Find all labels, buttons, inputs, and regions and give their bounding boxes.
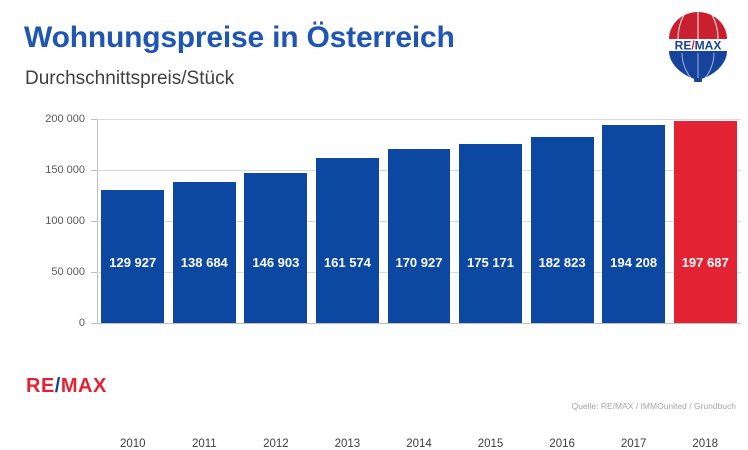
bars-container: 129 927138 684146 903161 574170 927175 1… <box>97 104 741 356</box>
bar-slot: 182 823 <box>526 104 598 323</box>
x-axis-label: 2013 <box>312 438 384 450</box>
x-axis-label: 2011 <box>169 438 241 450</box>
bar-value-label: 138 684 <box>173 255 236 270</box>
y-axis-label: 0 <box>79 317 85 329</box>
x-axis-label: 2018 <box>669 438 741 450</box>
y-axis-label: 100 000 <box>45 215 85 227</box>
x-axis-label: 2015 <box>455 438 527 450</box>
source-note: Quelle: RE/MAX / IMMOunited / Grundbuch <box>572 401 736 411</box>
bar-value-label: 197 687 <box>674 255 737 270</box>
bar[interactable]: 129 927 <box>101 190 164 323</box>
bar[interactable]: 197 687 <box>674 121 737 323</box>
y-axis-label: 50 000 <box>51 266 85 278</box>
x-axis-label: 2012 <box>240 438 312 450</box>
bar-value-label: 175 171 <box>459 255 522 270</box>
bar-slot: 194 208 <box>598 104 670 323</box>
y-axis-label: 150 000 <box>45 164 85 176</box>
x-axis-label: 2010 <box>97 438 169 450</box>
bar[interactable]: 146 903 <box>244 173 307 323</box>
remax-wordmark-logo: RE/MAX <box>26 375 107 398</box>
bar-value-label: 170 927 <box>388 255 451 270</box>
x-axis-label: 2014 <box>383 438 455 450</box>
chart-subtitle: Durchschnittspreis/Stück <box>25 68 234 90</box>
x-axis-label: 2016 <box>526 438 598 450</box>
bar-slot: 129 927 <box>97 104 169 323</box>
bar[interactable]: 138 684 <box>173 182 236 323</box>
bar-value-label: 182 823 <box>531 255 594 270</box>
bar-slot: 170 927 <box>383 104 455 323</box>
bar-slot: 138 684 <box>169 104 241 323</box>
bar-value-label: 146 903 <box>244 255 307 270</box>
bar-value-label: 194 208 <box>602 255 665 270</box>
bar-slot: 175 171 <box>455 104 527 323</box>
bar-slot: 197 687 <box>669 104 741 323</box>
bar-slot: 161 574 <box>312 104 384 323</box>
svg-text:RE/MAX: RE/MAX <box>675 39 722 53</box>
remax-balloon-logo: RE/MAX <box>660 6 736 84</box>
wordmark-re: RE <box>26 375 55 397</box>
page-title: Wohnungspreise in Österreich <box>24 21 455 55</box>
y-axis-label: 200 000 <box>45 113 85 125</box>
bar-slot: 146 903 <box>240 104 312 323</box>
chart-header: Wohnungspreise in Österreich Durchschnit… <box>0 0 748 104</box>
bar[interactable]: 170 927 <box>388 149 451 323</box>
bar-chart: 050 000100 000150 000200 000 129 927138 … <box>0 104 748 356</box>
bar-value-label: 161 574 <box>316 255 379 270</box>
bar[interactable]: 194 208 <box>602 125 665 323</box>
bar[interactable]: 161 574 <box>316 158 379 323</box>
bar[interactable]: 182 823 <box>531 137 594 323</box>
bar[interactable]: 175 171 <box>459 144 522 323</box>
x-axis-label: 2017 <box>598 438 670 450</box>
bar-value-label: 129 927 <box>101 255 164 270</box>
wordmark-max: MAX <box>61 375 107 397</box>
